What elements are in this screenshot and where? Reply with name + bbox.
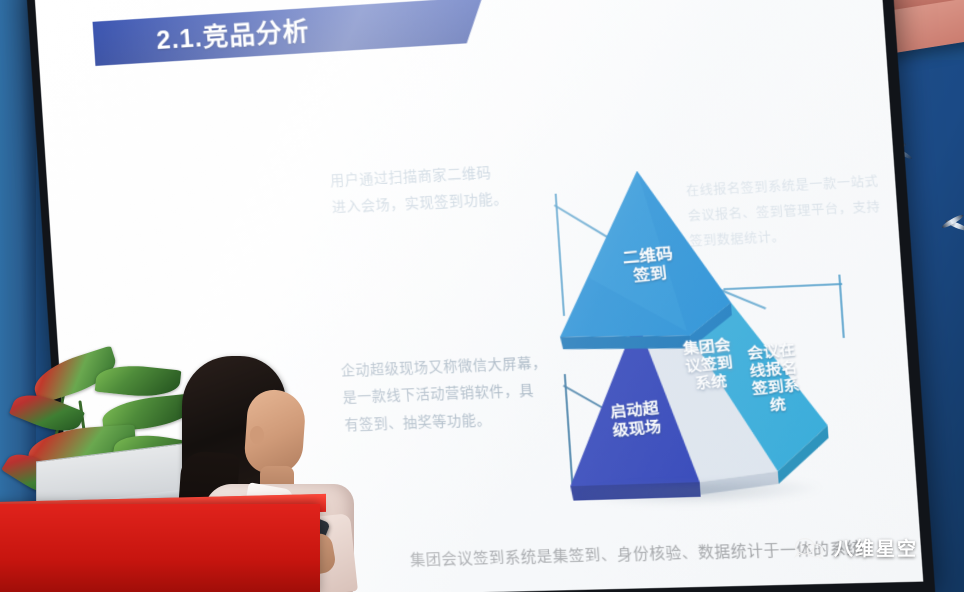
podium — [0, 504, 320, 592]
photo-scene: 2.1.竞品分析 用户通过扫描商家二维码 进入会场，实现签到功能。 企动超级现场… — [0, 0, 964, 592]
presenter-ear — [250, 426, 264, 444]
note-top-left: 用户通过扫描商家二维码 进入会场，实现签到功能。 — [329, 157, 553, 222]
wechat-icon — [792, 535, 826, 561]
pyramid-label-right: 会议在 线报名 签到系 统 — [734, 341, 815, 419]
note-middle-left: 企动超级现场又称微信大屏幕， 是一款线下活动营销软件，具 有签到、抽奖等功能。 — [340, 348, 588, 438]
pyramid-label-top: 二维码 签到 — [611, 244, 687, 289]
watermark-text: 八维星空 — [834, 534, 918, 561]
watermark: 八维星空 — [792, 534, 918, 561]
slide-title: 2.1.竞品分析 — [155, 0, 510, 61]
pyramid-label-left: 启动超 级现场 — [595, 398, 677, 441]
